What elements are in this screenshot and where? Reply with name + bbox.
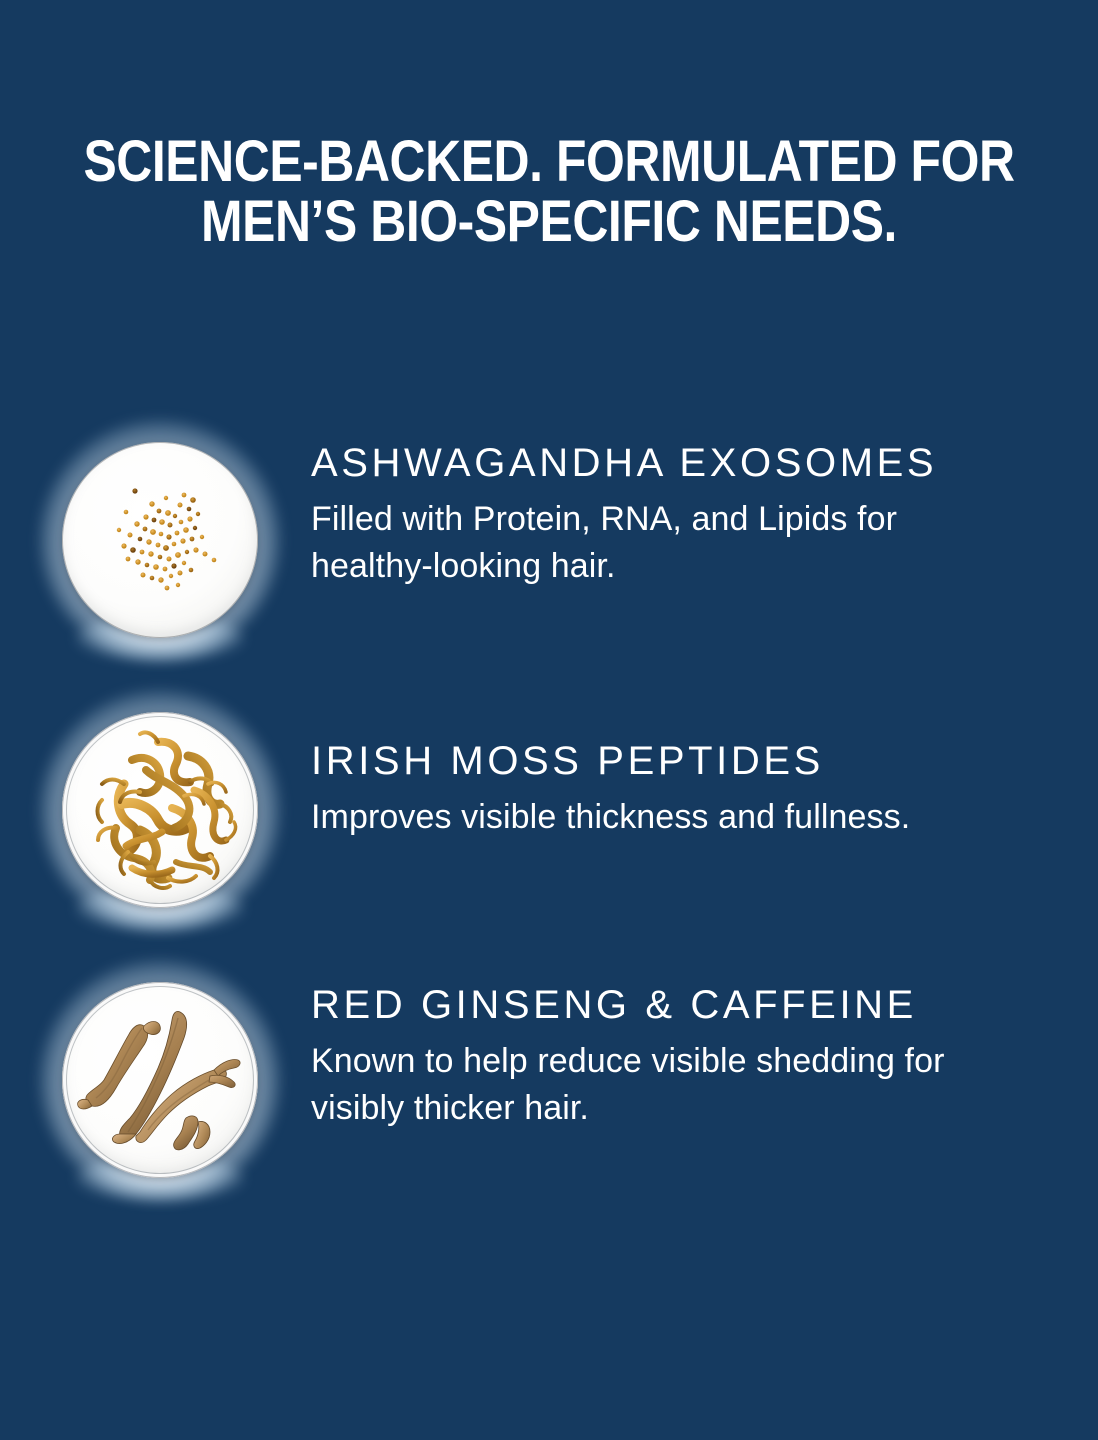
ingredient-text: ASHWAGANDHA EXOSOMES Filled with Protein… bbox=[311, 440, 1041, 590]
dish-body bbox=[62, 442, 258, 638]
ingredient-text: IRISH MOSS PEPTIDES Improves visible thi… bbox=[311, 738, 1041, 841]
ingredient-description: Known to help reduce visible shedding fo… bbox=[311, 1038, 1027, 1132]
ingredient-title: RED GINSENG & CAFFEINE bbox=[311, 982, 1041, 1028]
ingredient-description: Filled with Protein, RNA, and Lipids for… bbox=[311, 496, 1027, 590]
ingredient-text: RED GINSENG & CAFFEINE Known to help red… bbox=[311, 982, 1041, 1132]
ingredient-row: ASHWAGANDHA EXOSOMES Filled with Protein… bbox=[0, 420, 1098, 690]
dish-body bbox=[62, 982, 258, 1178]
ingredient-list: ASHWAGANDHA EXOSOMES Filled with Protein… bbox=[0, 420, 1098, 1230]
ginseng-roots-icon bbox=[62, 982, 258, 1178]
ingredient-row: RED GINSENG & CAFFEINE Known to help red… bbox=[0, 960, 1098, 1230]
ingredient-description: Improves visible thickness and fullness. bbox=[311, 794, 1027, 841]
irish-moss-strands-icon bbox=[62, 712, 258, 908]
petri-dish-ashwagandha-exosomes bbox=[40, 420, 280, 660]
page-headline: SCIENCE-BACKED. FORMULATED FOR MEN’S BIO… bbox=[77, 132, 1021, 252]
headline-line-2: MEN’S BIO-SPECIFIC NEEDS. bbox=[77, 192, 1021, 252]
exosome-granules-icon bbox=[62, 442, 258, 638]
petri-dish-irish-moss bbox=[40, 690, 280, 930]
ingredient-row: IRISH MOSS PEPTIDES Improves visible thi… bbox=[0, 690, 1098, 960]
headline-line-1: SCIENCE-BACKED. FORMULATED FOR bbox=[77, 132, 1021, 192]
ingredient-title: ASHWAGANDHA EXOSOMES bbox=[311, 440, 1041, 486]
ingredient-title: IRISH MOSS PEPTIDES bbox=[311, 738, 1041, 784]
petri-dish-red-ginseng bbox=[40, 960, 280, 1200]
dish-body bbox=[62, 712, 258, 908]
